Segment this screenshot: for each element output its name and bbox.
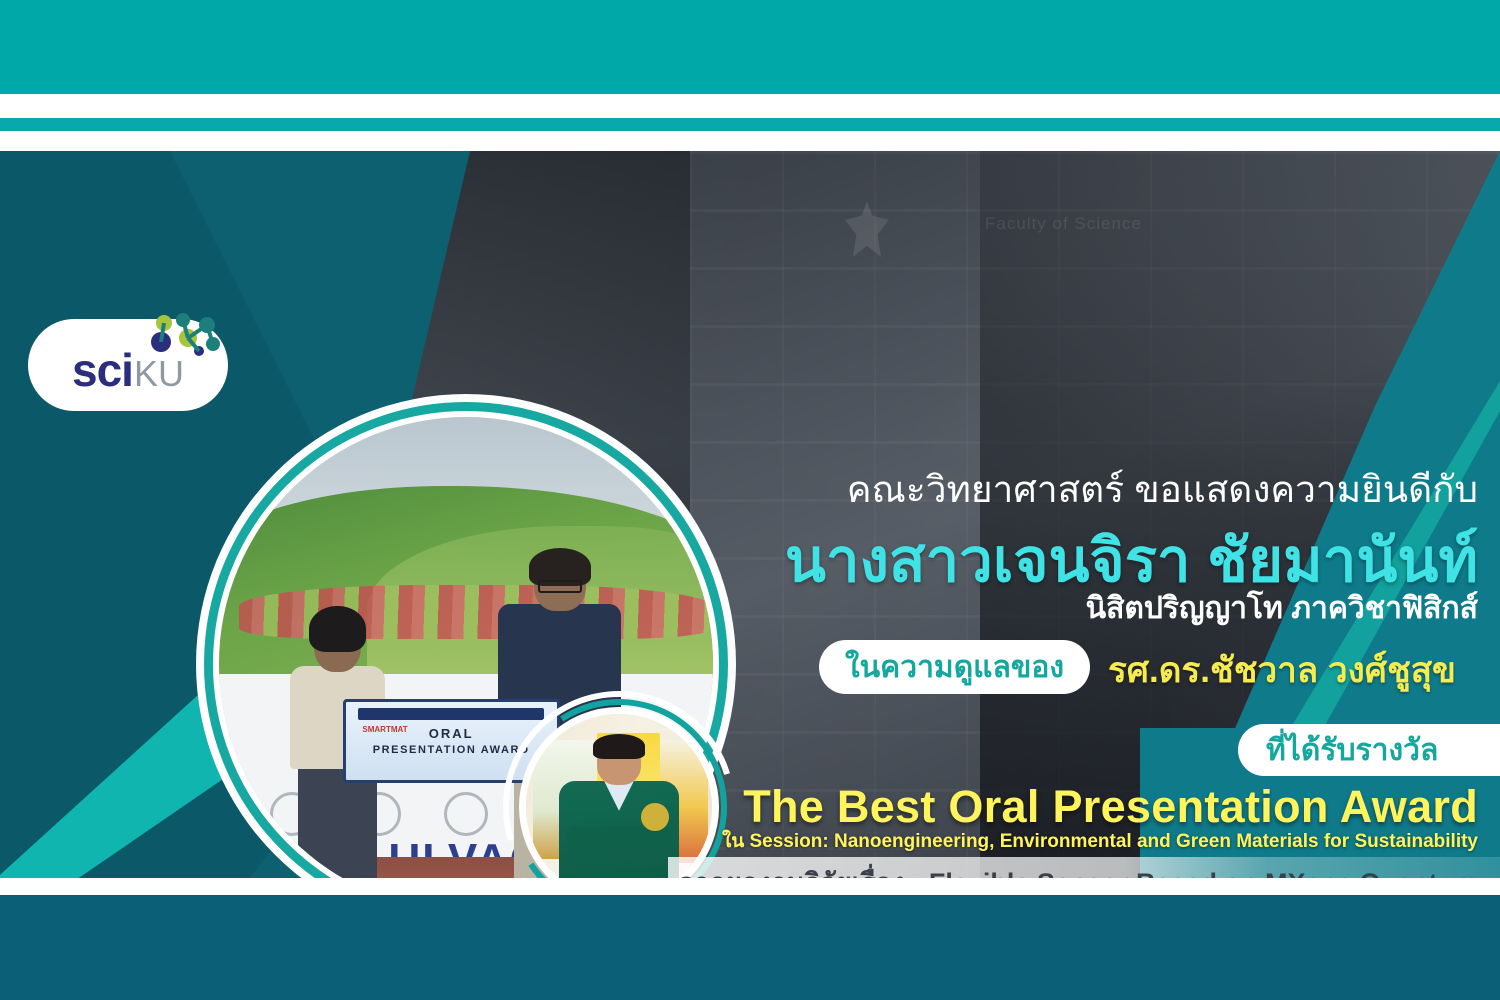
certificate-brand: SMARTMAT bbox=[362, 725, 407, 734]
advisor-name: รศ.ดร.ชัชวาล วงศ์ชูสุข bbox=[1108, 643, 1456, 698]
logo-sci-text: sci bbox=[72, 347, 133, 393]
congratulations-line: คณะวิทยาศาสตร์ ขอแสดงความยินดีกับ bbox=[847, 460, 1478, 519]
award-announcement-poster: Faculty of Science bbox=[0, 0, 1500, 1000]
under-supervision-pill: ในความดูแลของ bbox=[819, 640, 1090, 694]
logo-ku-text: KU bbox=[134, 356, 184, 392]
advisor-portrait-photo bbox=[519, 707, 719, 878]
main-stage: Faculty of Science bbox=[0, 151, 1500, 878]
top-teal-banner bbox=[0, 0, 1500, 94]
certificate-line-2: PRESENTATION AWARD bbox=[373, 744, 530, 756]
student-degree: นิสิตปริญญาโท ภาควิชาฟิสิกส์ bbox=[1086, 585, 1478, 632]
molecule-icon bbox=[150, 311, 228, 357]
session-line: ใน Session: Nanoengineering, Environment… bbox=[722, 826, 1478, 856]
award-received-pill: ที่ได้รับรางวัล bbox=[1238, 724, 1500, 776]
certificate-line-1: ORAL bbox=[429, 726, 474, 741]
contact-footer: คณะวิทยาศาสตร์ มหาวิทยาลัยเกษตรศาสตร์ 50… bbox=[0, 895, 1500, 1000]
sci-ku-logo: sci KU bbox=[28, 319, 228, 411]
research-title-line-1: จากผลงานวิจัยเรื่อง : Flexible Sensor Ba… bbox=[678, 861, 1478, 878]
top-teal-stripe bbox=[0, 118, 1500, 131]
